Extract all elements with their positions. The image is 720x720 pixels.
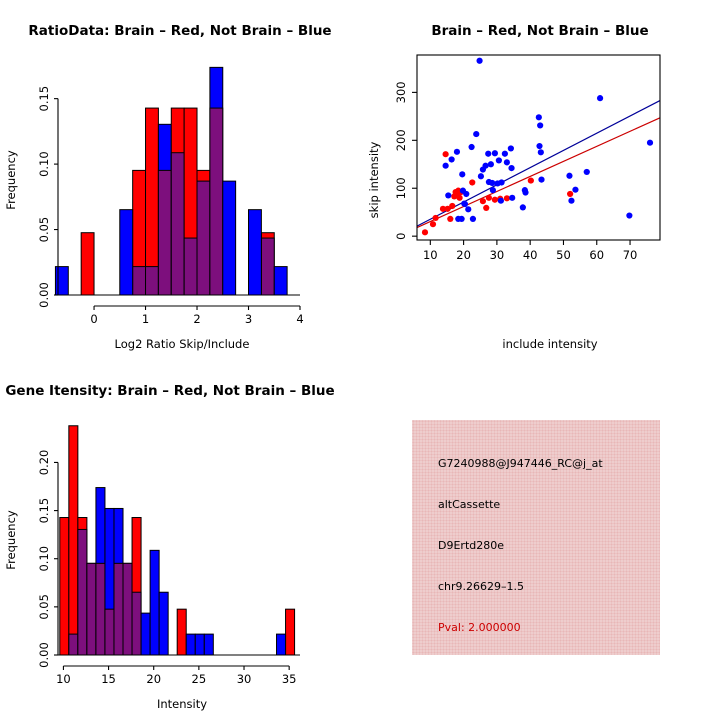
x-axis-tick-label: 25 [192,672,207,686]
scatter-point [447,216,453,222]
x-axis-tick-label: 4 [296,312,303,326]
x-axis-tick-label: 10 [56,672,71,686]
histogram-bar-overlap [105,609,114,655]
scatter-point [485,151,491,157]
x-axis-tick-label: 60 [589,248,604,262]
histogram-bar [159,592,168,655]
scatter-point [465,206,471,212]
histogram-bar [69,426,78,655]
scatter-point [538,177,544,183]
panel-info-box: G7240988@J947446_RC@j_at altCassette D9E… [360,360,720,720]
ratio-histogram-ylabel: Frequency [4,150,18,210]
histogram-bar [81,233,94,295]
scatter-point [537,122,543,128]
scatter-point [647,140,653,146]
scatter-point [508,165,514,171]
scatter-point [422,229,428,235]
scatter-point [449,156,455,162]
y-axis-tick-label: 0.00 [37,282,51,308]
x-axis-tick-label: 15 [101,672,116,686]
scatter-point [478,173,484,179]
x-axis-tick-label: 50 [556,248,571,262]
scatter-point [482,163,488,169]
x-axis-tick-label: 35 [282,672,297,686]
scatter-point [597,95,603,101]
x-axis-tick-label: 10 [423,248,438,262]
panel-scatter-plot: Brain – Red, Not Brain – Blue skip inten… [360,0,720,360]
histogram-bar [204,634,213,655]
histogram-bar [223,181,236,295]
histogram-bar-overlap [133,267,146,295]
info-box-text: G7240988@J947446_RC@j_at altCassette D9E… [438,458,688,663]
y-axis-tick-label: 200 [394,129,408,151]
histogram-bar-overlap [146,267,159,295]
panel-ratio-histogram: RatioData: Brain – Red, Not Brain – Blue… [0,0,360,360]
histogram-bar-overlap [261,238,274,295]
scatter-point [489,180,495,186]
y-axis-tick-label: 0.05 [37,594,51,620]
panel-gene-histogram: Gene Itensity: Brain – Red, Not Brain – … [0,360,360,720]
y-axis-tick-label: 0.10 [37,546,51,572]
scatter-point [459,171,465,177]
scatter-point [473,131,479,137]
plot-page: RatioData: Brain – Red, Not Brain – Blue… [0,0,720,720]
scatter-point [502,151,508,157]
y-axis-tick-label: 0 [394,233,408,240]
scatter-point [508,145,514,151]
scatter-point [498,179,504,185]
histogram-bar-overlap [132,592,141,655]
histogram-bar-overlap [171,153,184,295]
histogram-bar-overlap [184,238,197,295]
x-axis-tick-label: 20 [146,672,161,686]
gene-histogram-bars [60,426,295,655]
y-axis-tick-label: 0.15 [37,498,51,524]
scatter-point [490,187,496,193]
scatter-point [496,157,502,163]
y-axis-tick-label: 300 [394,81,408,103]
scatter-point [536,143,542,149]
gene-histogram-title: Gene Itensity: Brain – Red, Not Brain – … [5,383,334,399]
gene-histogram-svg: Gene Itensity: Brain – Red, Not Brain – … [0,360,360,720]
y-axis-tick-label: 0.05 [37,217,51,243]
scatter-point [449,203,455,209]
scatter-point [566,173,572,179]
scatter-point [443,151,449,157]
scatter-point [486,195,492,201]
scatter-point [469,179,475,185]
histogram-bar-overlap [114,563,123,655]
gene-symbol-label: D9Ertd280e [438,540,688,551]
ratio-histogram-svg: RatioData: Brain – Red, Not Brain – Blue… [0,0,360,360]
histogram-bar-overlap [96,563,105,655]
y-axis-tick-label: 0.10 [37,151,51,177]
gene-histogram-xlabel: Intensity [157,697,207,711]
scatter-plot-svg: Brain – Red, Not Brain – Blue skip inten… [360,0,720,360]
x-axis-tick-label: 3 [245,312,252,326]
x-axis-tick-label: 30 [237,672,252,686]
histogram-bar [195,634,204,655]
scatter-point [476,58,482,64]
scatter-plot-points [417,58,660,236]
gene-histogram-ylabel: Frequency [4,510,18,570]
scatter-point [483,205,489,211]
y-axis-tick-label: 0.15 [37,86,51,112]
y-axis-tick-label: 100 [394,177,408,199]
scatter-point [528,177,534,183]
x-axis-tick-label: 0 [90,312,97,326]
scatter-point [504,195,510,201]
x-axis-tick-label: 1 [142,312,149,326]
scatter-point [626,212,632,218]
histogram-bar-overlap [78,529,87,655]
x-axis-tick-label: 30 [490,248,505,262]
scatter-point [498,198,504,204]
histogram-bar [186,634,195,655]
scatter-plot-ylabel: skip intensity [367,141,381,218]
histogram-bar [141,613,150,655]
scatter-point [443,163,449,169]
ratio-histogram-bars [55,67,287,295]
pval-label: Pval: 2.000000 [438,622,688,633]
histogram-bar-overlap [87,563,96,655]
histogram-bar-overlap [210,108,223,295]
locus-label: chr9.26629–1.5 [438,581,688,592]
scatter-point [584,169,590,175]
x-axis-tick-label: 70 [623,248,638,262]
x-axis-tick-label: 20 [456,248,471,262]
scatter-plot-xlabel: include intensity [502,337,597,351]
scatter-point [568,198,574,204]
histogram-bar-overlap [69,634,78,655]
histogram-bar [249,210,262,295]
scatter-point [538,149,544,155]
scatter-point [468,144,474,150]
scatter-point [522,189,528,195]
histogram-bar [274,267,287,295]
scatter-point [567,191,573,197]
scatter-point [430,221,436,227]
scatter-point [462,201,468,207]
scatter-point [454,149,460,155]
histogram-bar-overlap [123,563,132,655]
y-axis-tick-label: 0.20 [37,450,51,476]
scatter-point [520,204,526,210]
histogram-bar [60,518,69,655]
scatter-point [504,159,510,165]
histogram-bar [177,609,186,655]
probe-id-label: G7240988@J947446_RC@j_at [438,458,688,469]
histogram-bar-overlap [197,181,210,295]
histogram-bar [55,267,68,295]
scatter-point [470,216,476,222]
event-type-label: altCassette [438,499,688,510]
ratio-histogram-title: RatioData: Brain – Red, Not Brain – Blue [28,23,331,39]
scatter-point [480,198,486,204]
trend-line [417,118,660,228]
scatter-point [492,197,498,203]
scatter-point [536,114,542,120]
ratio-histogram-xlabel: Log2 Ratio Skip/Include [115,337,250,351]
scatter-plot-title: Brain – Red, Not Brain – Blue [431,23,648,39]
y-axis-tick-label: 0.00 [37,642,51,668]
scatter-point [459,216,465,222]
histogram-bar-overlap [158,170,171,295]
scatter-point [433,215,439,221]
x-axis-tick-label: 2 [193,312,200,326]
scatter-plot-axes: 010020030010203040506070 [394,55,660,262]
histogram-bar [120,210,133,295]
scatter-point [492,150,498,156]
histogram-bar [150,550,159,655]
scatter-point [457,195,463,201]
histogram-bar [277,634,286,655]
scatter-point [509,195,515,201]
histogram-bar [286,609,295,655]
scatter-point [445,192,451,198]
x-axis-tick-label: 40 [523,248,538,262]
scatter-point [488,161,494,167]
scatter-point [463,191,469,197]
scatter-point [572,187,578,193]
